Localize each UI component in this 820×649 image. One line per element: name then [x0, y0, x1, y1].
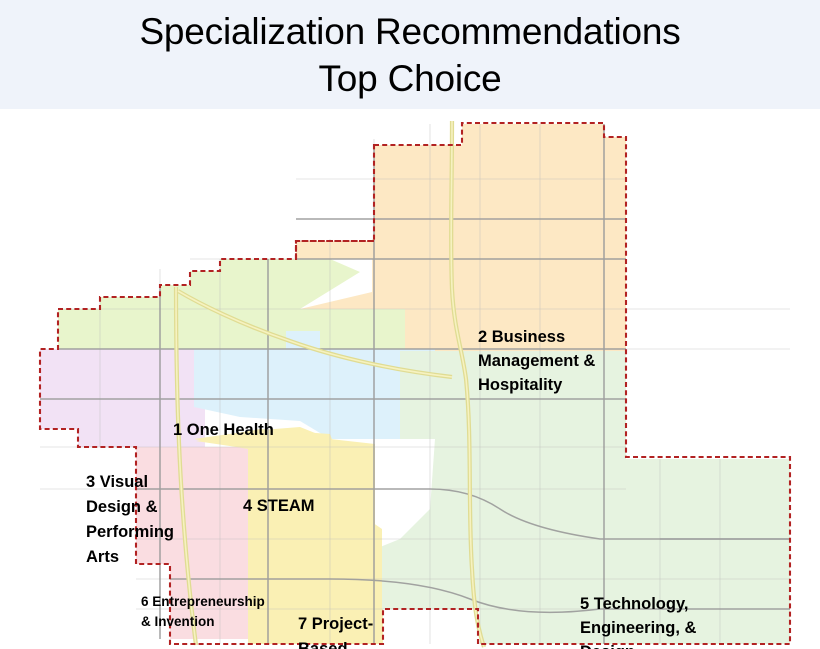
map-graphic	[0, 109, 820, 649]
slide-title-band: Specialization Recommendations Top Choic…	[0, 0, 820, 109]
specialization-map: 1 One Health 2 Business Management & Hos…	[0, 109, 820, 649]
page-title-line-2: Top Choice	[0, 55, 820, 102]
region-1-extension	[58, 309, 405, 349]
page-title-line-1: Specialization Recommendations	[0, 0, 820, 55]
slide-root: Specialization Recommendations Top Choic…	[0, 0, 820, 649]
